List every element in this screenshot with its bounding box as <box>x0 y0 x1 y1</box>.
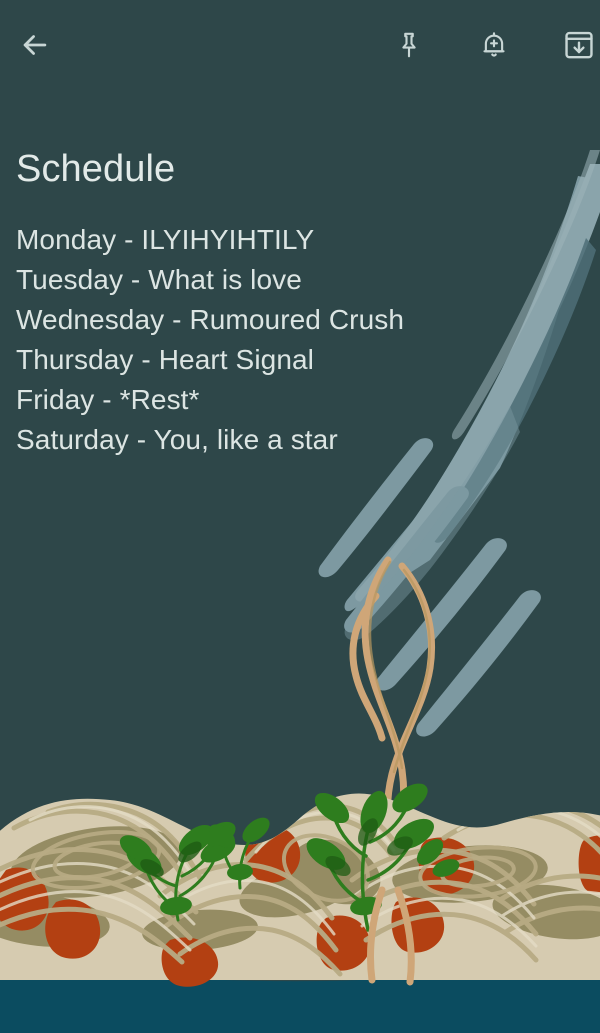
hanging-noodle-strands <box>353 560 432 982</box>
pin-icon <box>394 30 424 60</box>
strand-into-pile <box>370 890 411 982</box>
note-line: Friday - *Rest* <box>16 380 584 420</box>
herb-garnish <box>115 778 461 930</box>
archive-icon <box>562 28 596 62</box>
toolbar-actions <box>379 15 600 75</box>
archive-button[interactable] <box>549 15 600 75</box>
pin-button[interactable] <box>379 15 439 75</box>
note-editor-screen: Schedule Monday - ILYIHYIHTILY Tuesday -… <box>0 0 600 1033</box>
back-icon <box>18 28 52 62</box>
tomato-pieces <box>0 825 600 986</box>
note-line: Thursday - Heart Signal <box>16 340 584 380</box>
note-line: Saturday - You, like a star <box>16 420 584 460</box>
note-line: Wednesday - Rumoured Crush <box>16 300 584 340</box>
add-reminder-bell-icon <box>479 30 509 60</box>
note-line: Tuesday - What is love <box>16 260 584 300</box>
add-reminder-button[interactable] <box>464 15 524 75</box>
bowl-shape <box>0 956 600 1033</box>
note-body[interactable]: Monday - ILYIHYIHTILY Tuesday - What is … <box>16 220 584 460</box>
back-button[interactable] <box>5 15 65 75</box>
hanging-noodle-strands-shadow <box>370 562 430 772</box>
spaghetti-pile <box>0 780 600 987</box>
note-toolbar <box>0 0 600 90</box>
note-content: Schedule Monday - ILYIHYIHTILY Tuesday -… <box>0 90 600 460</box>
note-line: Monday - ILYIHYIHTILY <box>16 220 584 260</box>
note-title[interactable]: Schedule <box>16 150 584 190</box>
